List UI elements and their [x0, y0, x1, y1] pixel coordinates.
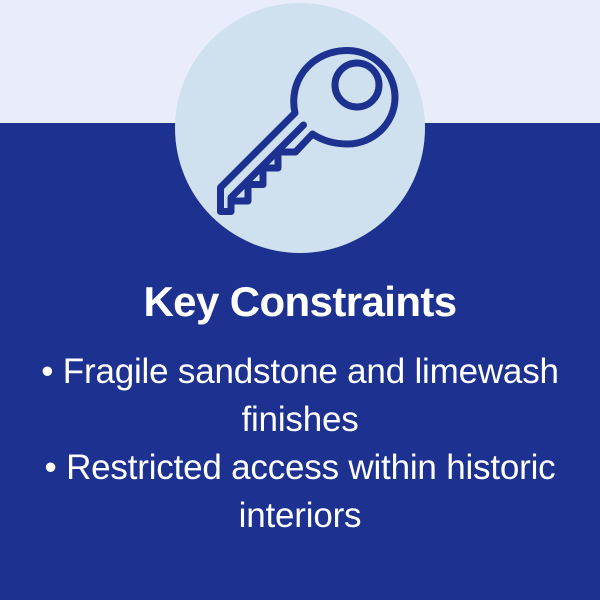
icon-medallion	[175, 3, 425, 253]
key-constraints-card: Key Constraints • Fragile sandstone and …	[0, 0, 600, 600]
list-item: • Restricted access within historic inte…	[8, 444, 592, 540]
page-title: Key Constraints	[0, 276, 600, 328]
key-icon	[175, 3, 425, 253]
list-item: • Fragile sandstone and limewash finishe…	[8, 348, 592, 444]
text-block: Key Constraints • Fragile sandstone and …	[0, 276, 600, 540]
constraints-list: • Fragile sandstone and limewash finishe…	[0, 348, 600, 540]
